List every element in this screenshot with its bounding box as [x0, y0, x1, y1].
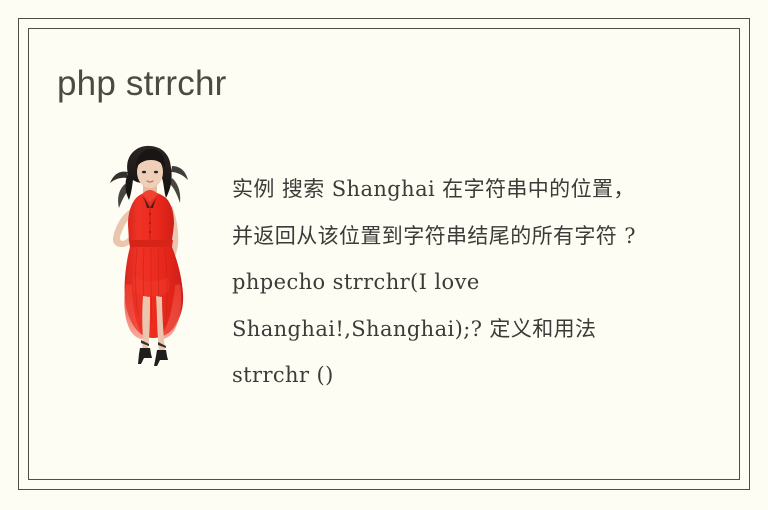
woman-figure-icon [88, 144, 216, 376]
page-root: php strrchr [0, 0, 768, 510]
page-title: php strrchr [57, 66, 226, 101]
article-body-text: 实例 搜索 Shanghai 在字符串中的位置，并返回从该位置到字符串结尾的所有… [232, 166, 650, 399]
illustration-woman-red-dress [88, 144, 216, 376]
